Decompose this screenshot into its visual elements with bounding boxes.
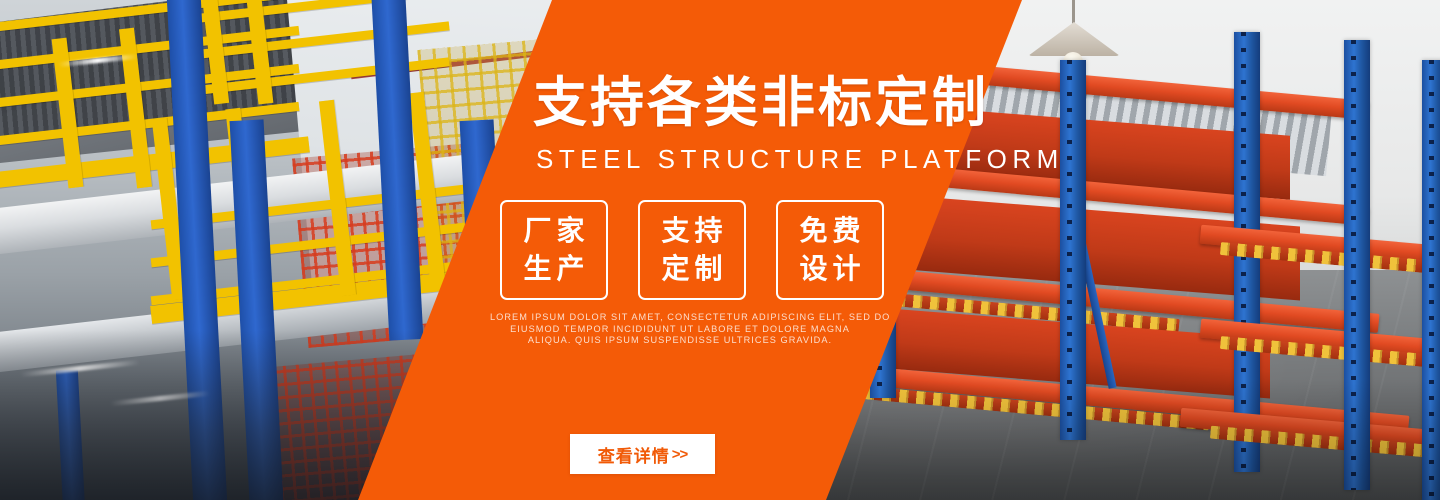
- feature-box-line1: 支持: [656, 212, 727, 250]
- feature-box-line1: 免费: [794, 212, 865, 250]
- feature-box-line2: 定制: [656, 250, 727, 288]
- feature-box-free-design: 免费 设计: [776, 200, 884, 300]
- feature-box-customization: 支持 定制: [638, 200, 746, 300]
- feature-box-row: 厂家 生产 支持 定制 免费 设计: [500, 200, 884, 300]
- feature-box-line1: 厂家: [518, 212, 589, 250]
- description-line-3: ALIQUA. QUIS IPSUM SUSPENDISSE ULTRICES …: [490, 335, 870, 347]
- double-chevron-right-icon: >>: [672, 446, 688, 463]
- description-line-2: EIUSMOD TEMPOR INCIDIDUNT UT LABORE ET D…: [490, 324, 870, 336]
- banner-description: LOREM IPSUM DOLOR SIT AMET, CONSECTETUR …: [490, 312, 870, 347]
- feature-box-line2: 生产: [518, 250, 589, 288]
- promo-banner: 支持各类非标定制 STEEL STRUCTURE PLATFORM 厂家 生产 …: [0, 0, 1440, 500]
- banner-content: 支持各类非标定制 STEEL STRUCTURE PLATFORM 厂家 生产 …: [0, 0, 1440, 500]
- feature-box-manufacturer: 厂家 生产: [500, 200, 608, 300]
- banner-subheadline: STEEL STRUCTURE PLATFORM: [536, 144, 1064, 174]
- description-line-1: LOREM IPSUM DOLOR SIT AMET, CONSECTETUR …: [490, 312, 870, 324]
- view-details-button[interactable]: 查看详情>>: [570, 434, 715, 474]
- cta-label: 查看详情: [598, 442, 670, 467]
- banner-headline: 支持各类非标定制: [533, 72, 989, 134]
- feature-box-line2: 设计: [794, 250, 865, 288]
